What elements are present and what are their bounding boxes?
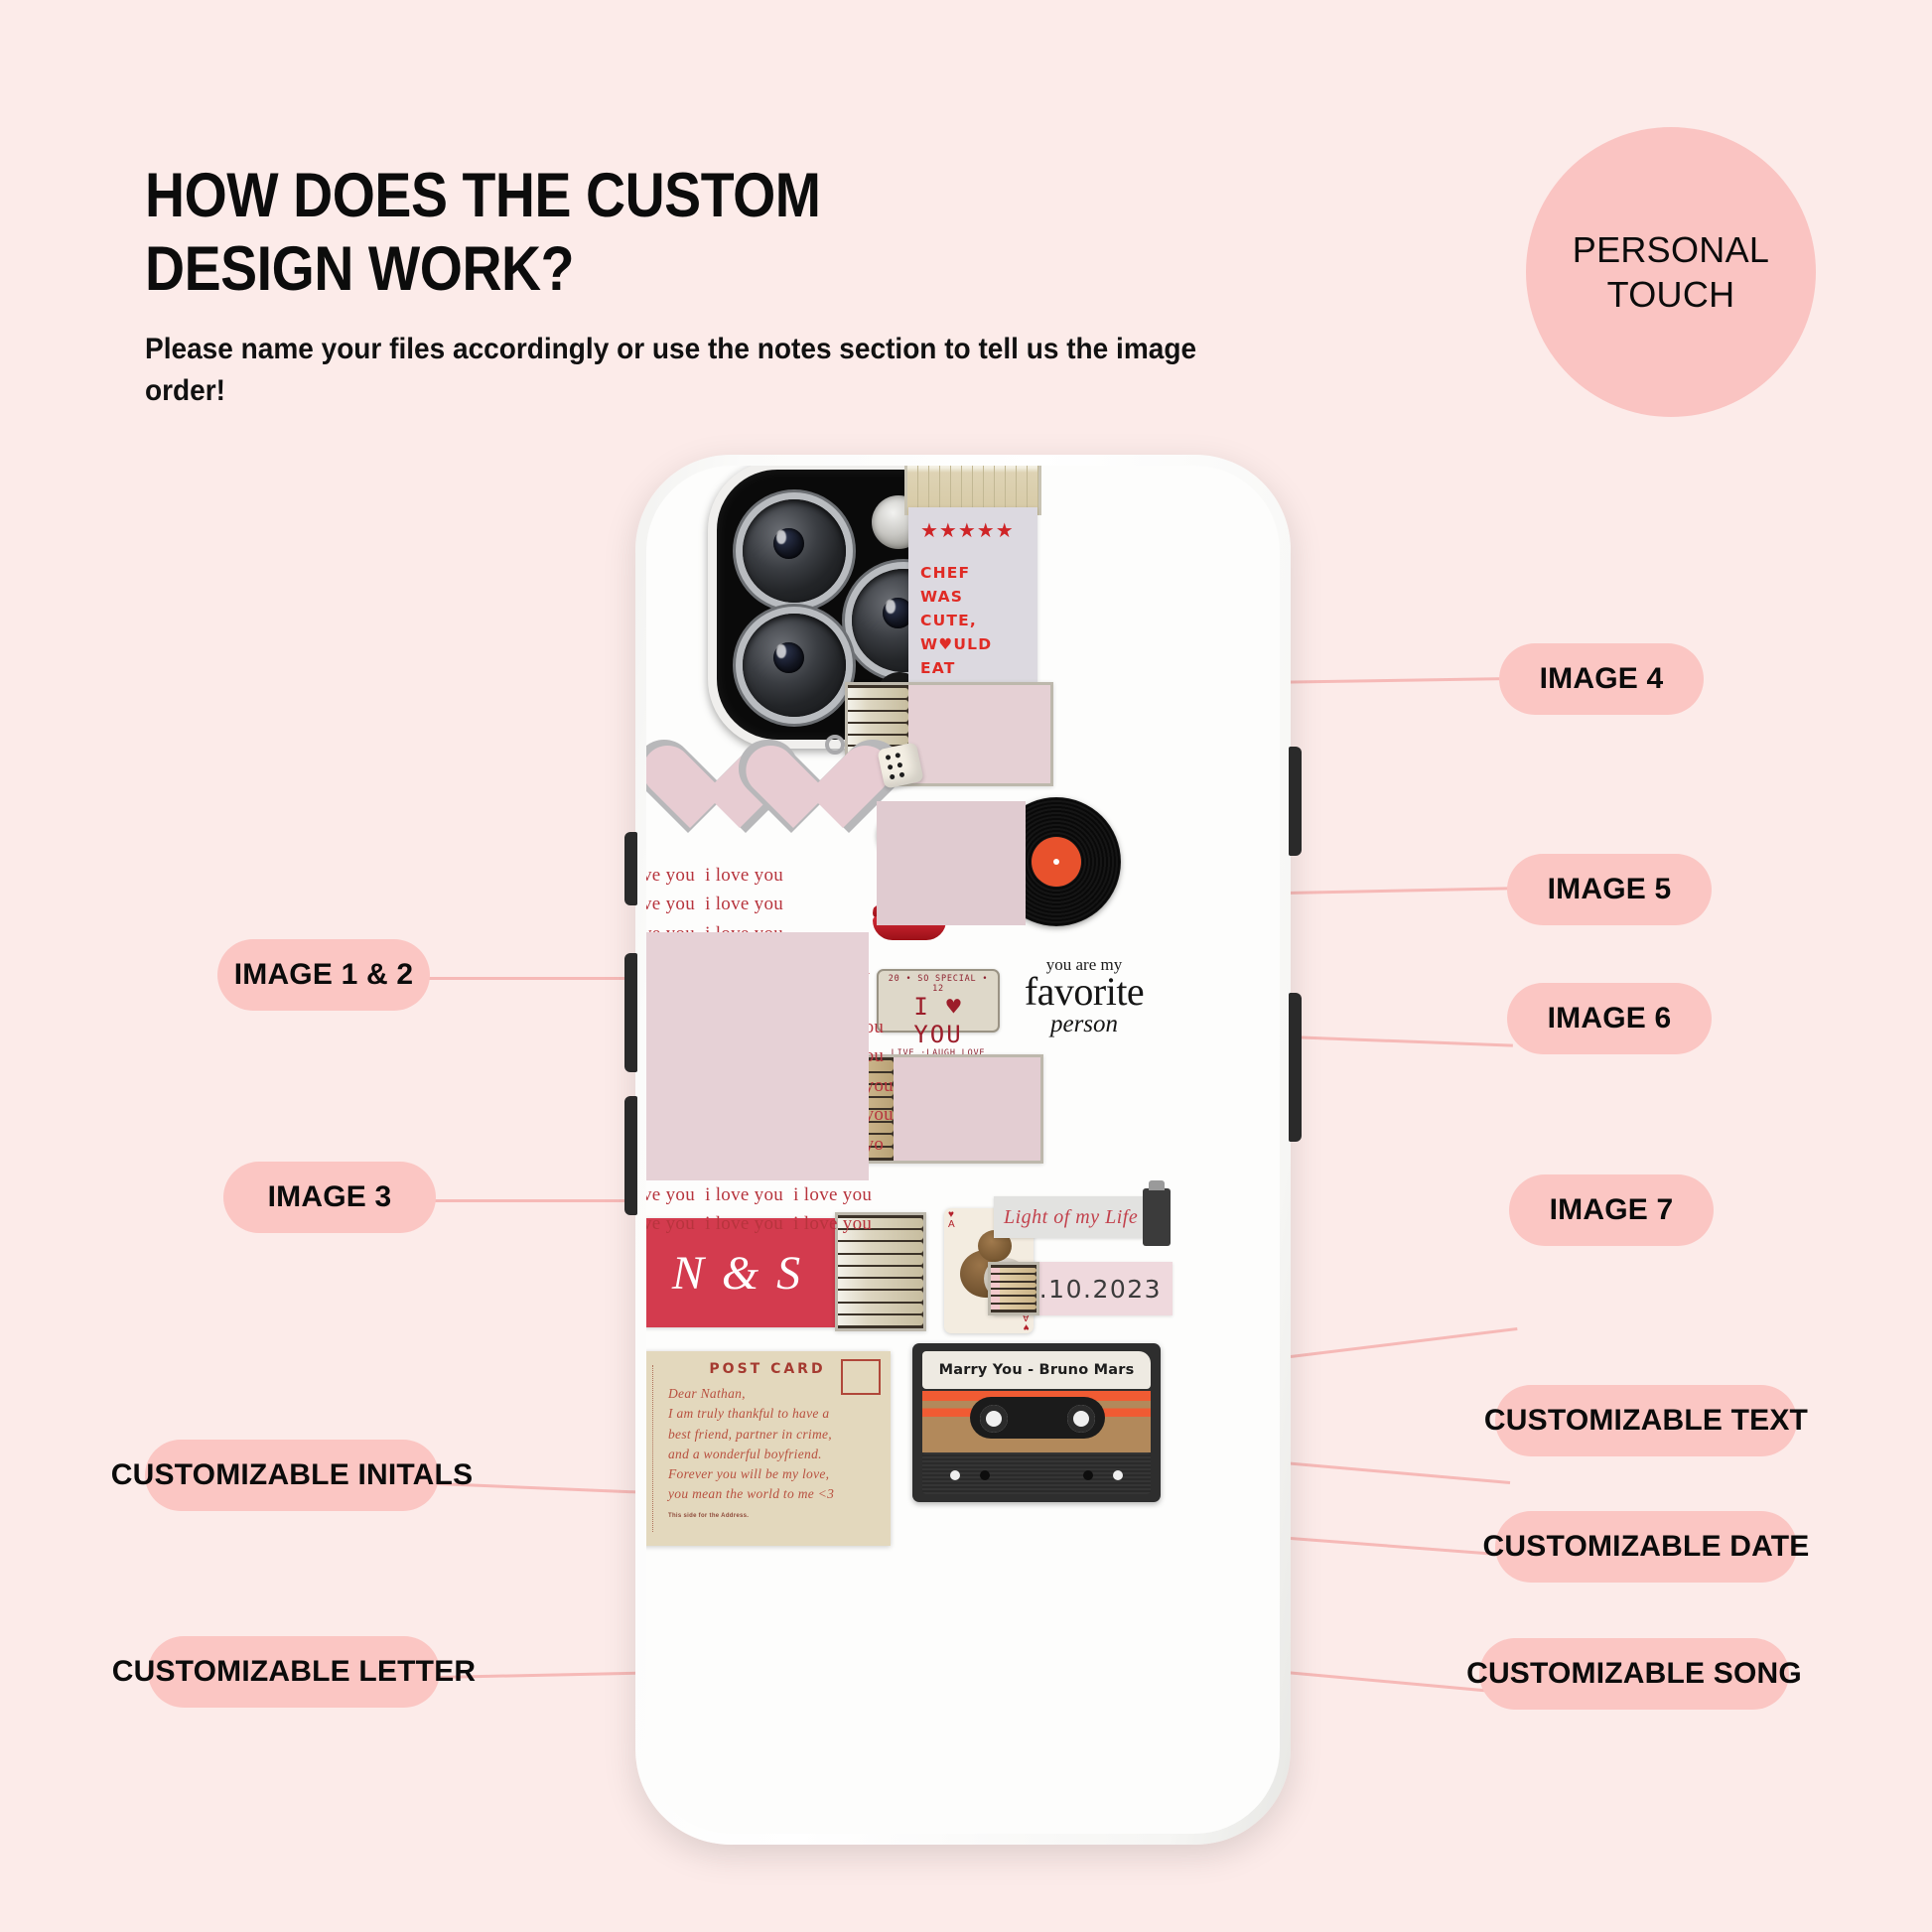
camera-lens-wide: [743, 499, 846, 603]
photo-slot-image-1-and-2[interactable]: [646, 742, 863, 853]
initials-text: N & S: [672, 1246, 803, 1301]
callout-label: CUSTOMIZABLE LETTER: [112, 1655, 477, 1689]
lighter-icon: [1143, 1188, 1171, 1246]
cassette-base: [922, 1452, 1151, 1494]
page-title: HOW DOES THE CUSTOM DESIGN WORK?: [145, 159, 1175, 307]
leader-line-image-1-2: [427, 977, 635, 980]
header: HOW DOES THE CUSTOM DESIGN WORK? Please …: [145, 159, 1316, 411]
leader-line-image-7: [1291, 1327, 1518, 1358]
favorite-line-3: person: [1016, 1012, 1153, 1036]
callout-image-7[interactable]: IMAGE 7: [1509, 1174, 1714, 1246]
matchbox-decor: [988, 1262, 1039, 1315]
callout-label: CUSTOMIZABLE SONG: [1466, 1657, 1802, 1691]
action-button[interactable]: [1289, 747, 1302, 856]
customizable-text-block[interactable]: Light of my Life: [994, 1196, 1165, 1238]
callout-label: IMAGE 6: [1548, 1002, 1672, 1035]
cassette-window: [970, 1397, 1105, 1439]
phone-case-back-surface: ★★★★★ CHEF WAS CUTE, W♥ULD EAT HERE AGAI…: [646, 466, 1280, 1834]
cassette-label[interactable]: Marry You - Bruno Mars: [922, 1351, 1151, 1389]
leader-line-text: [1261, 1459, 1510, 1484]
heart-locket-left[interactable]: [646, 742, 746, 845]
postcard-rail: [652, 1365, 662, 1532]
song-title: Marry You - Bruno Mars: [939, 1362, 1135, 1378]
leader-line-image-4: [1261, 677, 1504, 684]
callout-customizable-song[interactable]: CUSTOMIZABLE SONG: [1479, 1638, 1789, 1710]
callout-label: IMAGE 1 & 2: [234, 958, 414, 992]
customizable-song-cassette[interactable]: Marry You - Bruno Mars: [912, 1343, 1161, 1502]
volume-down-button[interactable]: [624, 1096, 637, 1215]
customizable-text-value: Light of my Life: [1004, 1206, 1138, 1229]
photo-slot-image-3[interactable]: [646, 932, 869, 1180]
callout-label: IMAGE 4: [1540, 662, 1664, 696]
callout-image-1-2[interactable]: IMAGE 1 & 2: [217, 939, 430, 1011]
mute-switch[interactable]: [624, 832, 637, 905]
love-text-pattern: i love you i love you i love you i love …: [646, 1180, 944, 1239]
callout-label: CUSTOMIZABLE TEXT: [1484, 1404, 1808, 1438]
callout-customizable-initals[interactable]: CUSTOMIZABLE INITALS: [145, 1440, 439, 1511]
callout-image-3[interactable]: IMAGE 3: [223, 1162, 436, 1233]
locket-ring-icon: [825, 735, 845, 755]
callout-image-4[interactable]: IMAGE 4: [1499, 643, 1704, 715]
customizable-letter-postcard[interactable]: POST CARD Dear Nathan, I am truly thankf…: [646, 1351, 891, 1546]
postage-stamp-icon: [841, 1359, 881, 1395]
callout-image-5[interactable]: IMAGE 5: [1507, 854, 1712, 925]
star-rating: ★★★★★: [920, 521, 1026, 541]
cassette-hole: [1113, 1470, 1123, 1480]
favorite-line-2: favorite: [1016, 973, 1153, 1011]
postcard-body: Dear Nathan, I am truly thankful to have…: [668, 1384, 881, 1505]
page-subtitle: Please name your files accordingly or us…: [145, 329, 1258, 412]
callout-label: IMAGE 7: [1550, 1193, 1674, 1227]
photo-placeholder-2[interactable]: [738, 742, 849, 845]
callout-customizable-date[interactable]: CUSTOMIZABLE DATE: [1495, 1511, 1797, 1583]
cassette-reel-right-icon: [1067, 1405, 1095, 1433]
cassette-hole: [980, 1470, 990, 1480]
callout-customizable-text[interactable]: CUSTOMIZABLE TEXT: [1495, 1385, 1797, 1456]
leader-line-date: [1291, 1537, 1511, 1557]
photo-placeholder-5[interactable]: [908, 685, 1050, 783]
callout-image-6[interactable]: IMAGE 6: [1507, 983, 1712, 1054]
camera-lens-ultrawide: [743, 614, 846, 717]
review-card: ★★★★★ CHEF WAS CUTE, W♥ULD EAT HERE AGAI…: [908, 507, 1037, 684]
matchbook-review-sticker: ★★★★★ CHEF WAS CUTE, W♥ULD EAT HERE AGAI…: [904, 466, 1041, 686]
postcard-footer: This side for the Address.: [668, 1513, 881, 1519]
badge-label: PERSONAL TOUCH: [1573, 227, 1769, 317]
power-button[interactable]: [1289, 993, 1302, 1142]
favorite-person-sticker: you are my favorite person: [1016, 956, 1153, 1037]
callout-customizable-letter[interactable]: CUSTOMIZABLE LETTER: [148, 1636, 440, 1708]
callout-label: CUSTOMIZABLE DATE: [1483, 1530, 1810, 1564]
dice-icon: [877, 742, 923, 788]
phone-case-mockup: ★★★★★ CHEF WAS CUTE, W♥ULD EAT HERE AGAI…: [635, 455, 1291, 1845]
cassette-reel-left-icon: [980, 1405, 1008, 1433]
cassette-hole: [950, 1470, 960, 1480]
callout-label: CUSTOMIZABLE INITALS: [111, 1458, 474, 1492]
photo-placeholder-1[interactable]: [646, 742, 746, 845]
callout-label: IMAGE 3: [268, 1180, 392, 1214]
cassette-hole: [1083, 1470, 1093, 1480]
callout-label: IMAGE 5: [1548, 873, 1672, 906]
heart-locket-right[interactable]: [738, 742, 849, 845]
photo-slot-image-6[interactable]: [877, 801, 1026, 925]
leader-line-image-6: [1289, 1035, 1513, 1047]
matchsticks-icon: [991, 1265, 1036, 1312]
heart-suit-icon: ♥A: [948, 1210, 955, 1230]
leader-line-image-5: [1287, 887, 1513, 895]
personal-touch-badge: PERSONAL TOUCH: [1526, 127, 1816, 417]
volume-up-button[interactable]: [624, 953, 637, 1072]
